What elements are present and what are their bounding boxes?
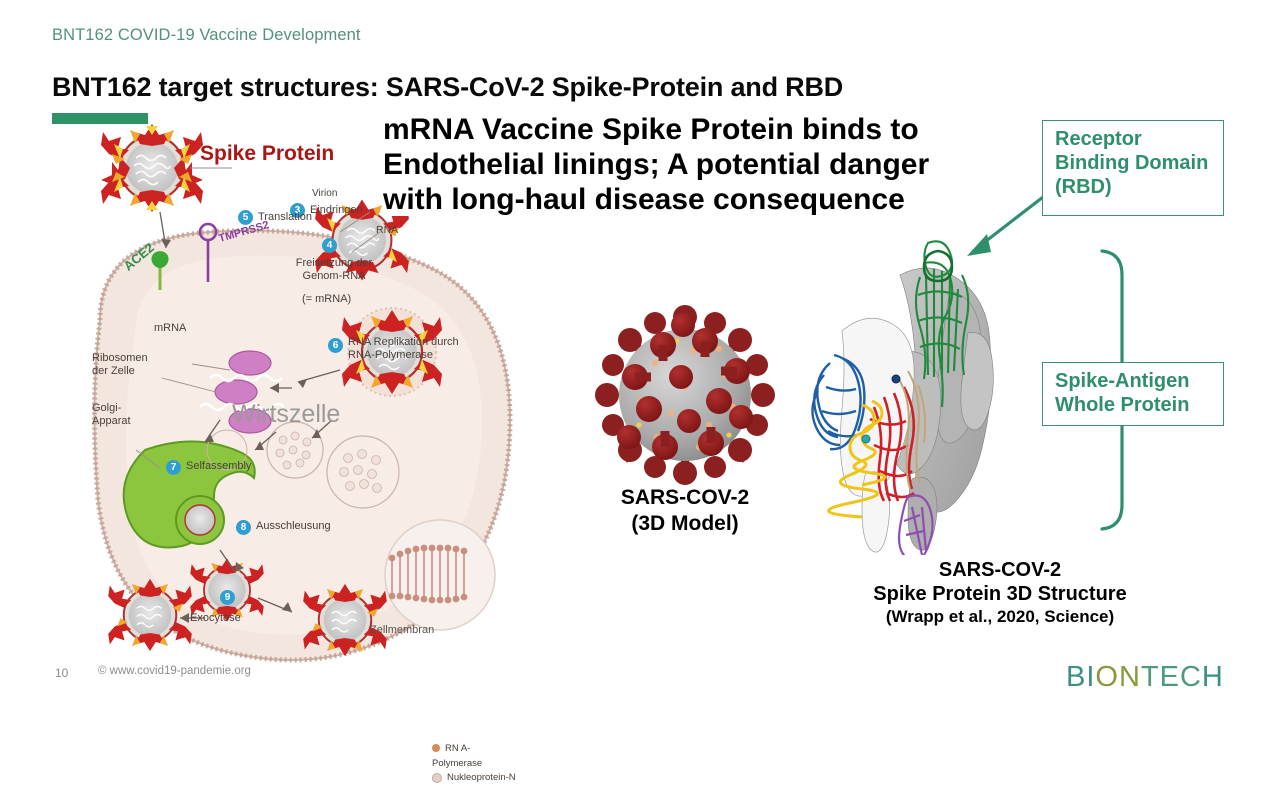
virus-model-caption: SARS-COV-2 (3D Model) (560, 485, 810, 538)
step-4-label: Freisetzung der Genom-RNA (286, 257, 382, 282)
mrna-label: mRNA (154, 322, 186, 335)
polymerase-dot-icon (432, 744, 440, 752)
slide: BNT162 COVID-19 Vaccine Development BNT1… (0, 0, 1280, 720)
copyright-notice: © www.covid19-pandemie.org (98, 665, 251, 677)
caption-line: Spike Protein 3D Structure (820, 582, 1180, 606)
step-9-badge: 9 (220, 590, 235, 605)
virus-3d-model-image (580, 295, 790, 495)
spike-structure-caption: SARS-COV-2 Spike Protein 3D Structure (W… (820, 558, 1180, 628)
overlay-line: with long-haul disease consequence (383, 183, 905, 216)
legend-label: Nukleoprotein-N (447, 772, 516, 783)
slide-kicker: BNT162 COVID-19 Vaccine Development (52, 26, 361, 45)
nucleoprotein-dot-icon (432, 773, 442, 783)
legend-item: RN A-Polymerase (432, 742, 520, 771)
biontech-logo: BIONTECH (1066, 661, 1224, 694)
caption-line: (3D Model) (560, 511, 810, 537)
step-9-label: Exocytose (190, 612, 241, 625)
caption-line: SARS-COV-2 (560, 485, 810, 511)
step-4-sub-label: (= mRNA) (302, 293, 351, 306)
spike-protein-structure-image (800, 235, 1040, 555)
step-6-badge: 6 (328, 338, 343, 353)
overlay-line: mRNA Vaccine Spike Protein binds to (383, 113, 919, 146)
rna-label: RNA (376, 224, 398, 236)
callout-spike-antigen[interactable]: Spike-Antigen Whole Protein (1042, 362, 1224, 426)
cell-membrane-label: Zellmembran (370, 624, 434, 636)
virion-label: Virion (312, 188, 337, 200)
step-8-label: Ausschleusung (256, 520, 331, 533)
step-5-label: Translation (258, 211, 312, 224)
diagram-legend: RN A-Polymerase Nukleoprotein-N (432, 742, 520, 786)
step-3-label: Eindringen (310, 204, 363, 217)
ribosomes-label: Ribosomen der Zelle (92, 352, 164, 377)
overlay-statement: mRNA Vaccine Spike Protein binds to Endo… (383, 112, 983, 217)
callout-label: Spike-Antigen Whole Protein (1055, 370, 1189, 416)
logo-segment: BI (1066, 661, 1095, 693)
step-6-label: RNA Replikation durch RNA-Polymerase (348, 336, 478, 361)
step-8-badge: 8 (236, 520, 251, 535)
page-title: BNT162 target structures: SARS-CoV-2 Spi… (52, 72, 843, 103)
logo-segment: ON (1095, 661, 1141, 693)
overlay-line: Endothelial linings; A potential danger (383, 148, 929, 181)
caption-line: SARS-COV-2 (820, 558, 1180, 582)
callout-label: Receptor Binding Domain (RBD) (1055, 128, 1208, 198)
host-cell-label: Wirtszelle (232, 400, 340, 429)
logo-segment: H (1202, 661, 1224, 693)
step-4-badge: 4 (322, 238, 337, 253)
logo-segment: TEC (1141, 661, 1202, 693)
caption-line: (Wrapp et al., 2020, Science) (820, 607, 1180, 628)
spike-protein-callout-label: Spike Protein (200, 142, 334, 166)
callout-receptor-binding-domain[interactable]: Receptor Binding Domain (RBD) (1042, 120, 1224, 216)
step-7-badge: 7 (166, 460, 181, 475)
step-7-label: Selfassembly (186, 460, 251, 473)
legend-item: Nukleoprotein-N (432, 771, 520, 786)
page-number: 10 (55, 666, 68, 680)
golgi-label: Golgi-Apparat (92, 402, 152, 427)
step-5-badge: 5 (238, 210, 253, 225)
